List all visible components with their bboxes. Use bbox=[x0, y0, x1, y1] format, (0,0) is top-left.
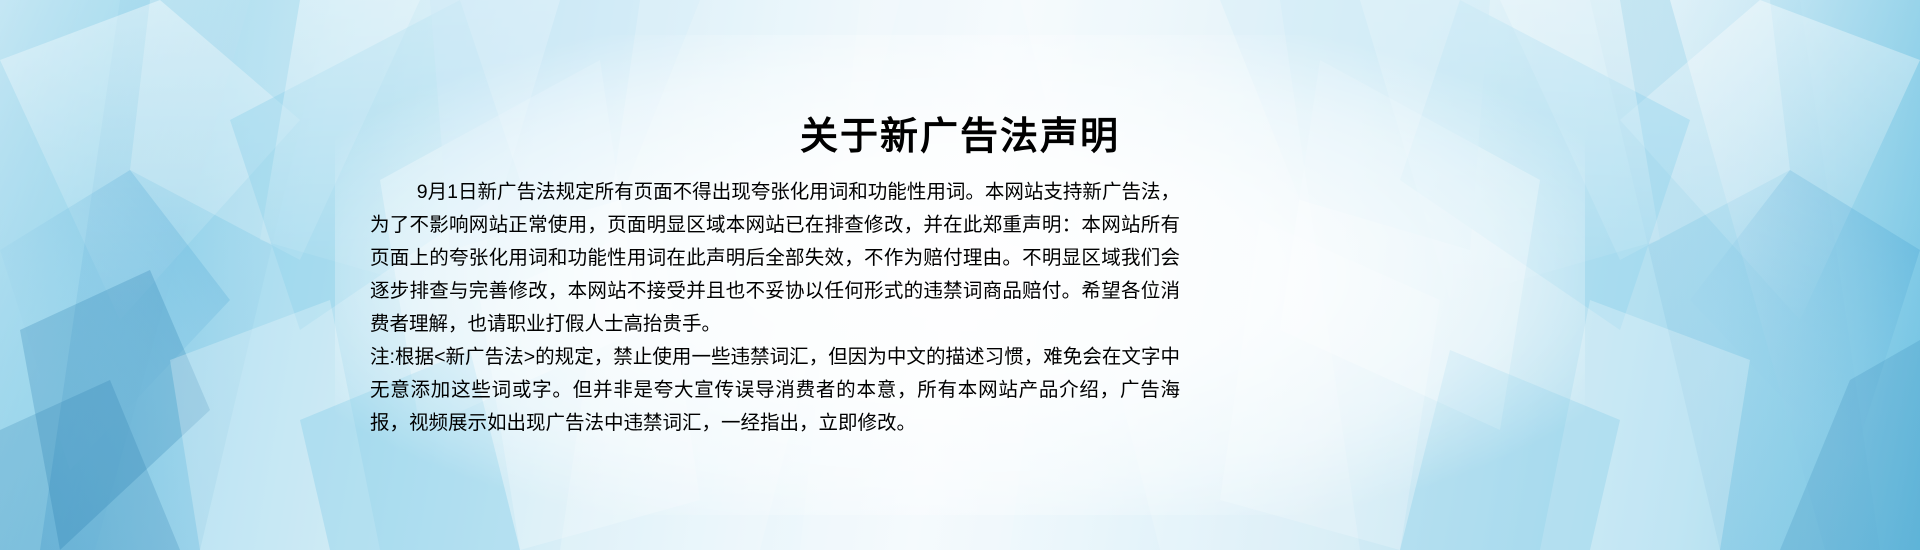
statement-paragraph-2: 注:根据<新广告法>的规定，禁止使用一些违禁词汇，但因为中文的描述习惯，难免会在… bbox=[370, 341, 1180, 440]
advertising-law-banner: 关于新广告法声明 9月1日新广告法规定所有页面不得出现夸张化用词和功能性用词。本… bbox=[0, 0, 1920, 550]
statement-body: 9月1日新广告法规定所有页面不得出现夸张化用词和功能性用词。本网站支持新广告法，… bbox=[370, 176, 1180, 440]
banner-content: 关于新广告法声明 9月1日新广告法规定所有页面不得出现夸张化用词和功能性用词。本… bbox=[0, 0, 1920, 550]
page-title: 关于新广告法声明 bbox=[0, 113, 1920, 161]
statement-paragraph-1: 9月1日新广告法规定所有页面不得出现夸张化用词和功能性用词。本网站支持新广告法，… bbox=[370, 176, 1180, 341]
